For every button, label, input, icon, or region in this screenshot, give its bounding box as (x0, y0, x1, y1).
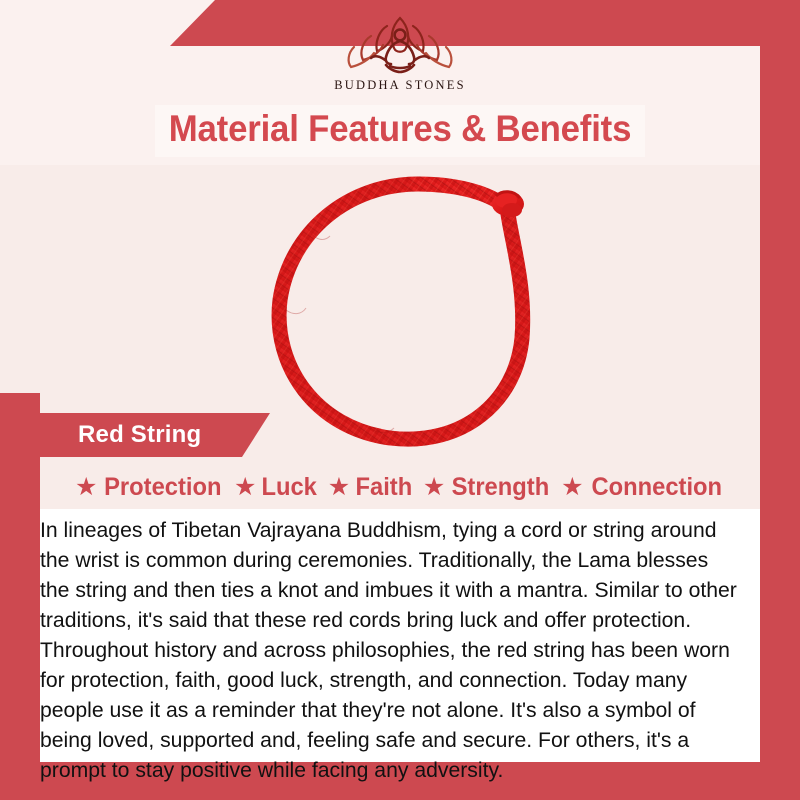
star-icon: ★ (328, 475, 350, 500)
benefit-label: Luck (262, 473, 317, 502)
benefit-label: Protection (104, 473, 221, 502)
decor-band-left (0, 393, 40, 800)
description-text: In lineages of Tibetan Vajrayana Buddhis… (40, 515, 743, 785)
brand-logo: BUDDHA STONES (0, 10, 800, 98)
lotus-meditation-icon (330, 10, 470, 76)
benefit-item-protection: ★ Protection (75, 473, 225, 502)
star-icon: ★ (234, 475, 256, 500)
description-block: In lineages of Tibetan Vajrayana Buddhis… (40, 509, 760, 762)
infographic-canvas: BUDDHA STONES Material Features & Benefi… (0, 0, 800, 800)
star-icon: ★ (75, 475, 97, 500)
benefit-item-strength: ★ Strength (423, 473, 552, 502)
benefit-label: Strength (452, 473, 550, 502)
product-image-red-string-bracelet (250, 170, 580, 460)
star-icon: ★ (423, 475, 445, 500)
star-icon: ★ (561, 475, 583, 500)
benefit-item-luck: ★ Luck (234, 473, 319, 502)
page-title: Material Features & Benefits (24, 108, 776, 150)
brand-name: BUDDHA STONES (334, 78, 466, 93)
benefit-label: Connection (591, 473, 722, 502)
product-tag-banner: Red String (40, 413, 270, 457)
benefit-item-connection: ★ Connection (561, 473, 725, 502)
product-tag-label: Red String (78, 421, 201, 449)
benefits-row: ★ Protection ★ Luck ★ Faith ★ Strength ★… (40, 466, 760, 508)
benefit-label: Faith (356, 473, 413, 502)
benefit-item-faith: ★ Faith (328, 473, 414, 502)
